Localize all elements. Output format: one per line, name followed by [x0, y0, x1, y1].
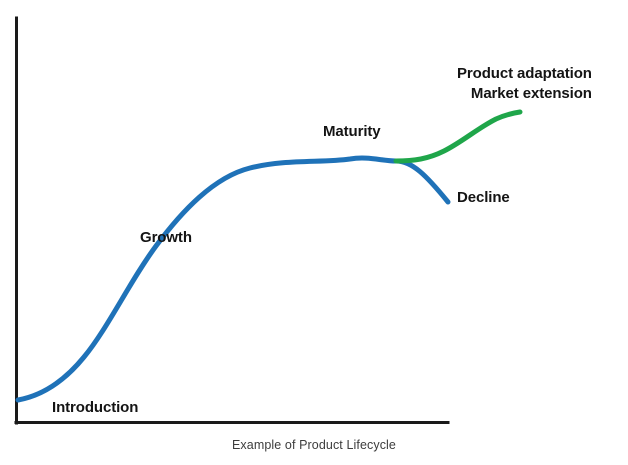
stage-label-growth: Growth	[140, 228, 192, 248]
extension-curve	[396, 112, 520, 161]
stage-label-decline: Decline	[457, 188, 510, 208]
adaptation-line-2: Market extension	[457, 84, 592, 104]
lifecycle-curve	[18, 158, 448, 400]
stage-label-introduction: Introduction	[52, 398, 138, 418]
product-lifecycle-figure: Introduction Growth Maturity Decline Pro…	[0, 0, 628, 465]
figure-caption: Example of Product Lifecycle	[0, 438, 628, 452]
stage-label-maturity: Maturity	[323, 122, 381, 142]
adaptation-line-1: Product adaptation	[457, 64, 592, 84]
stage-label-product-adaptation-market-extension: Product adaptation Market extension	[457, 64, 592, 104]
